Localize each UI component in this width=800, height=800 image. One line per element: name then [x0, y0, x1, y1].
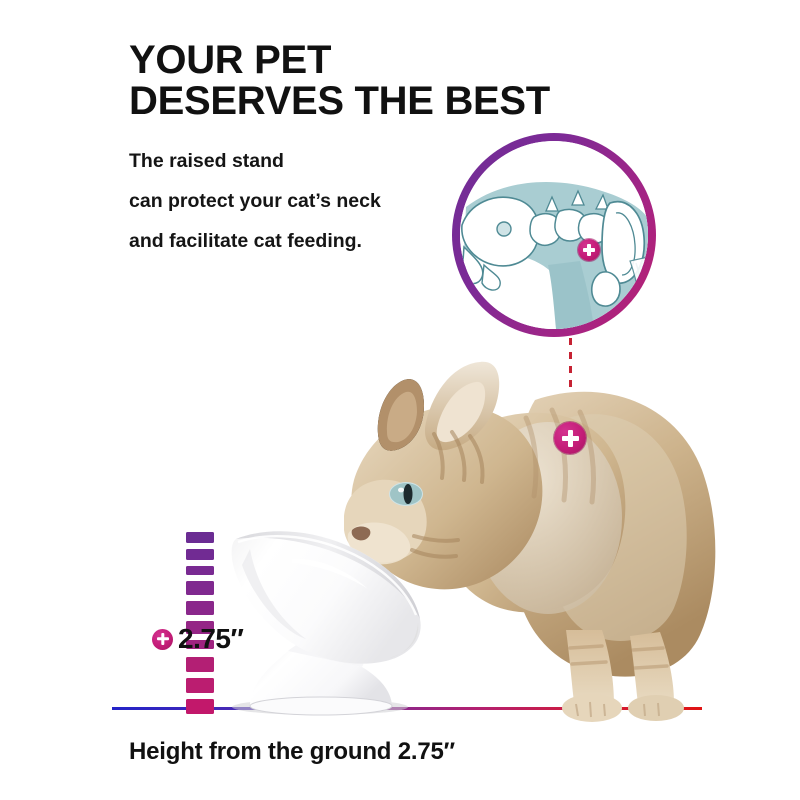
ruler-tick [186, 549, 214, 560]
ruler-tick [186, 532, 214, 543]
bowl-image [196, 515, 446, 720]
ruler-tick [186, 601, 214, 615]
xray-illustration [460, 141, 648, 329]
caption: Height from the ground 2.75″ [129, 738, 455, 766]
ruler-tick [186, 566, 214, 575]
ruler-tick [186, 678, 214, 693]
ruler-tick [186, 581, 214, 595]
body-copy: The raised stand can protect your cat’s … [129, 141, 459, 261]
measurement-callout: 2.75″ [152, 625, 243, 653]
xray-plus-marker-icon [578, 239, 600, 261]
height-ruler [186, 532, 214, 710]
ruler-tick [186, 699, 214, 714]
poster-canvas: YOUR PET DESERVES THE BEST The raised st… [0, 0, 800, 800]
xray-inset [452, 133, 656, 337]
ruler-tick [186, 657, 214, 672]
page-title: YOUR PET DESERVES THE BEST [129, 40, 669, 122]
neck-plus-marker-icon [554, 422, 586, 454]
measurement-value: 2.75″ [178, 625, 243, 653]
measurement-plus-icon [152, 629, 173, 650]
